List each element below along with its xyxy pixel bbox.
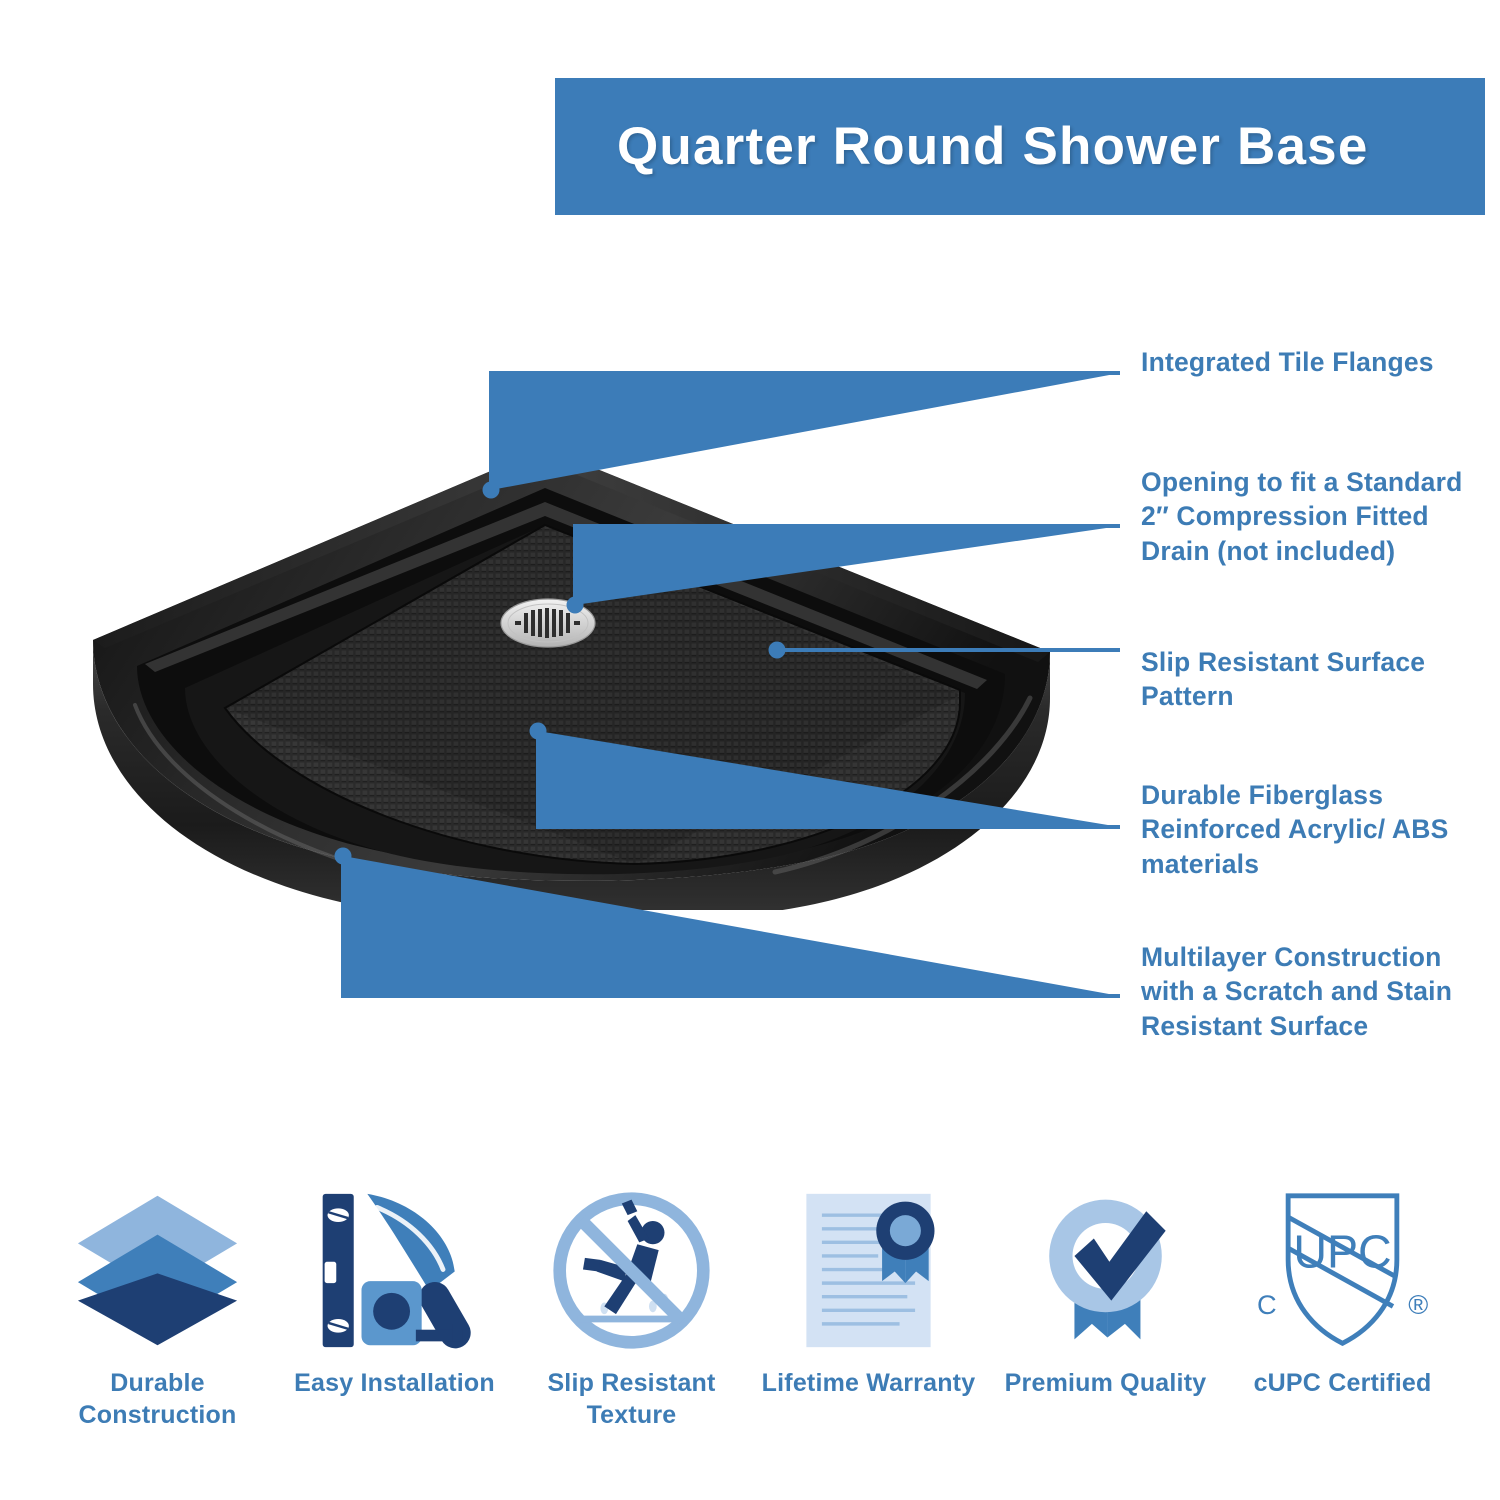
feature-label: Slip Resistant Texture bbox=[514, 1367, 749, 1431]
feature-easy-installation: Easy Installation bbox=[277, 1185, 512, 1399]
callout-drain-opening: Opening to fit a Standard 2″ Compression… bbox=[1141, 465, 1471, 568]
feature-label: cUPC Certified bbox=[1254, 1367, 1432, 1399]
feature-badges-row: Durable Construction bbox=[40, 1185, 1460, 1455]
leader-line-materials bbox=[538, 731, 1120, 827]
feature-label: Easy Installation bbox=[294, 1367, 495, 1399]
leader-line-drain bbox=[575, 526, 1120, 605]
leader-dot-drain bbox=[567, 597, 584, 614]
level-trowel-icon bbox=[300, 1185, 490, 1355]
leader-dot-multilayer bbox=[335, 848, 352, 865]
callout-multilayer-construction: Multilayer Construction with a Scratch a… bbox=[1141, 940, 1471, 1043]
feature-label: Premium Quality bbox=[1005, 1367, 1207, 1399]
cupc-left-mark: C bbox=[1257, 1289, 1277, 1320]
callout-durable-materials: Durable Fiberglass Reinforced Acrylic/ A… bbox=[1141, 778, 1471, 881]
feature-slip-resistant-texture: Slip Resistant Texture bbox=[514, 1185, 749, 1431]
cupc-registered-mark: ® bbox=[1408, 1289, 1428, 1320]
certificate-icon bbox=[774, 1185, 964, 1355]
leader-line-flanges bbox=[491, 373, 1120, 490]
leader-dot-flanges bbox=[483, 482, 500, 499]
feature-label: Durable Construction bbox=[40, 1367, 275, 1431]
callout-integrated-tile-flanges: Integrated Tile Flanges bbox=[1141, 345, 1471, 379]
feature-premium-quality: Premium Quality bbox=[988, 1185, 1223, 1399]
leader-line-multilayer bbox=[343, 856, 1120, 996]
no-slip-icon bbox=[537, 1185, 727, 1355]
layers-icon bbox=[63, 1185, 253, 1355]
cupc-shield-icon: UPC C ® bbox=[1248, 1185, 1438, 1355]
feature-label: Lifetime Warranty bbox=[762, 1367, 976, 1399]
feature-durable-construction: Durable Construction bbox=[40, 1185, 275, 1431]
leader-dot-surface bbox=[769, 642, 786, 659]
feature-cupc-certified: UPC C ® cUPC Certified bbox=[1225, 1185, 1460, 1399]
check-rosette-icon bbox=[1011, 1185, 1201, 1355]
cupc-text: UPC bbox=[1293, 1225, 1391, 1277]
feature-lifetime-warranty: Lifetime Warranty bbox=[751, 1185, 986, 1399]
callout-slip-resistant-surface: Slip Resistant Surface Pattern bbox=[1141, 645, 1471, 714]
leader-dot-materials bbox=[530, 723, 547, 740]
